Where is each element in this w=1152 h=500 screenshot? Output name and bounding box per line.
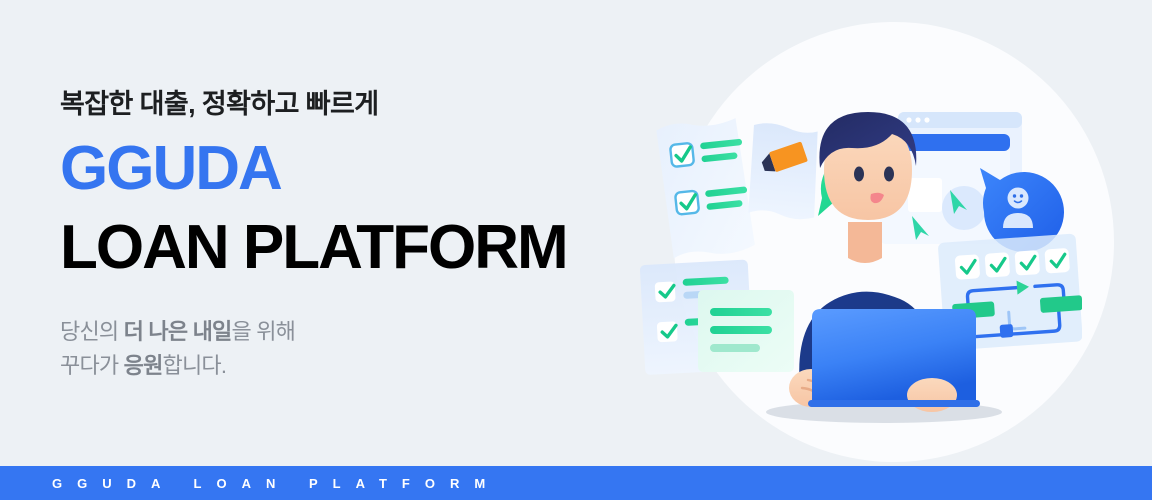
- laptop-base: [808, 400, 980, 407]
- hero-subtitle-line-2: 꾸다가 응원합니다.: [60, 349, 620, 383]
- subtitle-text-f: 합니다.: [163, 353, 227, 378]
- checklist-document-top: [656, 117, 756, 260]
- subtitle-text-a: 당신의: [60, 319, 124, 344]
- hero-title-brand: GGUDA: [60, 138, 620, 200]
- marquee-text: GGUDA LOAN PLATFORM: [0, 476, 500, 491]
- hero-eyebrow: 복잡한 대출, 정확하고 빠르게: [60, 88, 620, 122]
- hero-text-block: 복잡한 대출, 정확하고 빠르게 GGUDA LOAN PLATFORM 당신의…: [60, 88, 620, 383]
- subtitle-text-b: 더 나은 내일: [124, 319, 232, 344]
- bottom-marquee-bar: GGUDA LOAN PLATFORM: [0, 466, 1152, 500]
- hero-banner: 복잡한 대출, 정확하고 빠르게 GGUDA LOAN PLATFORM 당신의…: [0, 0, 1152, 500]
- hero-subtitle: 당신의 더 나은 내일을 위해 꾸다가 응원합니다.: [60, 315, 620, 383]
- hero-illustration: [612, 12, 1082, 464]
- subtitle-text-d: 꾸다가: [60, 353, 124, 378]
- mint-note-card: [698, 290, 794, 372]
- person-eye-left: [854, 167, 864, 182]
- person-eye-right: [884, 167, 894, 182]
- subtitle-text-e: 응원: [124, 353, 163, 378]
- illustration-graphic: [612, 12, 1082, 464]
- subtitle-text-c: 을 위해: [231, 319, 295, 344]
- laptop: [808, 309, 980, 412]
- hero-title-rest: LOAN PLATFORM: [60, 217, 620, 279]
- hero-subtitle-line-1: 당신의 더 나은 내일을 위해: [60, 315, 620, 349]
- person-neck: [848, 222, 882, 263]
- pencil-document: [746, 122, 822, 221]
